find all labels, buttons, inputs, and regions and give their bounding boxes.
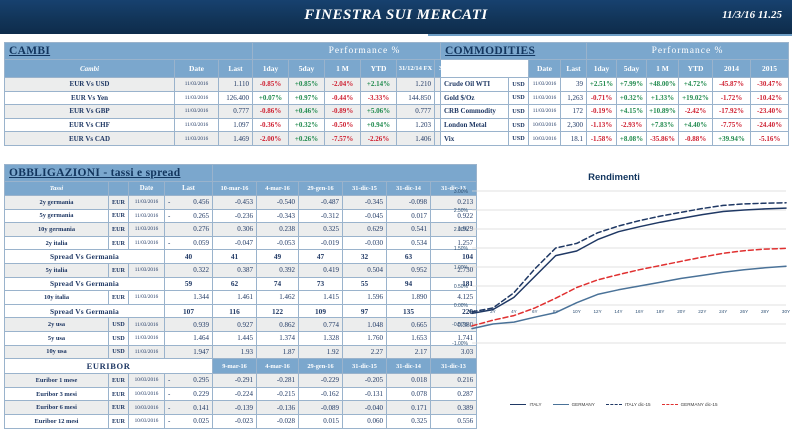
commodity-2015-cell: -5.16% bbox=[751, 132, 789, 146]
commodity-last-cell: 1,263 bbox=[561, 91, 587, 105]
euribor-c4-cell: -0.205 bbox=[343, 374, 387, 388]
spread-c1-cell: 41 bbox=[213, 250, 257, 264]
rate-c1-cell: -0.236 bbox=[213, 209, 257, 223]
commodity-1m-cell: +7.83% bbox=[647, 118, 679, 132]
rate-c2-cell: 0.392 bbox=[257, 263, 299, 277]
euribor-row-label: Euribor 12 mesi bbox=[35, 418, 79, 425]
spread-c3-cell: 73 bbox=[299, 277, 343, 291]
commodity-5day-cell: +4.15% bbox=[617, 105, 647, 119]
rate-row-label: 5y italia bbox=[46, 267, 68, 274]
rate-row-label: 10y usa bbox=[46, 348, 66, 355]
spread-row: Spread Vs Germania10711612210997135220 bbox=[5, 304, 477, 318]
commodity-date-cell: 11/03/2016 bbox=[529, 78, 561, 92]
euribor-ccy-cell: EUR bbox=[109, 401, 129, 415]
euribor-col-2: 4-mar-16 bbox=[257, 359, 299, 374]
rate-c2-cell: 1.374 bbox=[257, 331, 299, 345]
rate-row-label: 10y germania bbox=[38, 226, 75, 233]
spread-label: Spread Vs Germania bbox=[5, 250, 165, 264]
rate-c3-cell: 1.92 bbox=[299, 345, 343, 359]
commodity-ytd-cell: -0.88% bbox=[679, 132, 713, 146]
rate-date-cell: 11/03/2016 bbox=[129, 196, 165, 210]
cambi-5day-cell: +0.85% bbox=[289, 78, 325, 92]
euribor-last-cell: -0.141 bbox=[165, 401, 213, 415]
commodities-col-ytd: YTD bbox=[679, 60, 713, 78]
euribor-name-cell: Euribor 12 mesi bbox=[5, 414, 109, 428]
table-row: 5y germaniaEUR11/03/2016-0.265-0.236-0.3… bbox=[5, 209, 477, 223]
rate-name-cell: 10y usa bbox=[5, 345, 109, 359]
rate-c2-cell: -0.343 bbox=[257, 209, 299, 223]
x-tick-label: 26Y bbox=[740, 309, 748, 314]
table-row: 5y italiaEUR11/03/20160.3220.3870.3920.4… bbox=[5, 263, 477, 277]
cambi-col-fx14: 31/12/14 FX bbox=[397, 60, 435, 78]
y-tick-label: 2.00% bbox=[454, 227, 469, 233]
table-row: Euribor 3 mesiEUR10/03/2016-0.229-0.224-… bbox=[5, 387, 477, 401]
rate-c5-cell: -0.098 bbox=[387, 196, 431, 210]
rate-c3-cell: -0.312 bbox=[299, 209, 343, 223]
commodities-section-title: COMMODITIES bbox=[441, 43, 587, 60]
commodity-2014-cell: +39.94% bbox=[713, 132, 751, 146]
rate-ccy-cell: USD bbox=[109, 345, 129, 359]
cambi-last-cell: 0.777 bbox=[219, 105, 253, 119]
obbligazioni-title-row: OBBLIGAZIONI - tassi e spread bbox=[5, 165, 477, 182]
rate-c3-cell: 1.415 bbox=[299, 291, 343, 305]
cambi-fx14-cell: 1.406 bbox=[397, 132, 435, 146]
euribor-ccy-cell: EUR bbox=[109, 414, 129, 428]
table-row: 10y germaniaEUR11/03/20160.2760.3060.238… bbox=[5, 223, 477, 237]
cambi-ytd-cell: +0.94% bbox=[361, 118, 397, 132]
table-row: 5y usaUSD11/03/20161.4641.4451.3741.3281… bbox=[5, 331, 477, 345]
euribor-header-row: EURIBOR9-mar-164-mar-1629-gen-1631-dic-1… bbox=[5, 359, 477, 374]
obbligazioni-title-filler bbox=[213, 165, 477, 182]
chart-title: Rendimenti bbox=[438, 172, 790, 183]
rate-c2-cell: -0.540 bbox=[257, 196, 299, 210]
rate-c5-cell: 0.017 bbox=[387, 209, 431, 223]
commodities-col-1m: 1 M bbox=[647, 60, 679, 78]
legend-swatch-icon bbox=[510, 404, 526, 405]
commodity-2015-cell: -23.40% bbox=[751, 105, 789, 119]
table-row: Crude Oil WTIUSD11/03/201639+2.51%+7.99%… bbox=[441, 78, 789, 92]
spread-c1-cell: 62 bbox=[213, 277, 257, 291]
rate-c1-cell: 1.461 bbox=[213, 291, 257, 305]
x-tick-label: 4Y bbox=[511, 309, 517, 314]
commodity-ytd-cell: +4.72% bbox=[679, 78, 713, 92]
commodity-name-cell: Gold $/Oz bbox=[441, 91, 509, 105]
spread-last-cell: 107 bbox=[165, 304, 213, 318]
obbligazioni-col-date: Date bbox=[129, 182, 165, 196]
cambi-row-label: EUR Vs CHF bbox=[69, 121, 110, 129]
rate-date-cell: 11/03/2016 bbox=[129, 236, 165, 250]
obbligazioni-col-c5: 31-dic-14 bbox=[387, 182, 431, 196]
cambi-1m-cell: -0.44% bbox=[325, 91, 361, 105]
commodity-last-cell: 172 bbox=[561, 105, 587, 119]
cambi-ytd-cell: -2.26% bbox=[361, 132, 397, 146]
x-tick-label: 22Y bbox=[698, 309, 706, 314]
spread-c5-cell: 63 bbox=[387, 250, 431, 264]
minus-sign: - bbox=[168, 212, 170, 220]
commodity-date-cell: 10/03/2016 bbox=[529, 118, 561, 132]
euribor-c2-cell: -0.215 bbox=[257, 387, 299, 401]
chart-legend: ITALYGERMANYITALY dic-15GERMANY dic-15 bbox=[438, 402, 790, 407]
rate-c3-cell: -0.487 bbox=[299, 196, 343, 210]
commodity-ccy-cell: USD bbox=[509, 132, 529, 146]
cambi-col-date: Date bbox=[175, 60, 219, 78]
commodity-1day-cell: -1.13% bbox=[587, 118, 617, 132]
x-tick-label: 24Y bbox=[719, 309, 727, 314]
commodity-5day-cell: +0.32% bbox=[617, 91, 647, 105]
cambi-fx14-cell: 0.777 bbox=[397, 105, 435, 119]
rate-c3-cell: 1.328 bbox=[299, 331, 343, 345]
cambi-col-name: Cambi bbox=[5, 60, 175, 78]
commodity-row-label: London Metal bbox=[444, 121, 487, 129]
commodity-1m-cell: -35.86% bbox=[647, 132, 679, 146]
cambi-row-label: EUR Vs CAD bbox=[69, 135, 110, 143]
cambi-col-1day: 1day bbox=[253, 60, 289, 78]
rate-date-cell: 11/03/2016 bbox=[129, 209, 165, 223]
cambi-row-label: EUR Vs GBP bbox=[69, 107, 109, 115]
rate-ccy-cell: USD bbox=[109, 331, 129, 345]
x-tick-label: 28Y bbox=[761, 309, 769, 314]
rate-c5-cell: 2.17 bbox=[387, 345, 431, 359]
spread-c4-cell: 32 bbox=[343, 250, 387, 264]
rate-row-label: 2y usa bbox=[48, 321, 65, 328]
minus-sign: - bbox=[168, 417, 170, 425]
commodity-date-cell: 10/03/2016 bbox=[529, 132, 561, 146]
cambi-name-cell: EUR Vs GBP bbox=[5, 105, 175, 119]
rate-ccy-cell: EUR bbox=[109, 291, 129, 305]
rate-c1-cell: 0.387 bbox=[213, 263, 257, 277]
commodity-name-cell: CRB Commodity bbox=[441, 105, 509, 119]
app-header: FINESTRA SUI MERCATI 11/3/16 11.25 bbox=[0, 0, 792, 36]
rate-last-cell: 0.276 bbox=[165, 223, 213, 237]
y-tick-label: 0.00% bbox=[454, 303, 469, 309]
rate-c1-cell: 0.927 bbox=[213, 318, 257, 332]
obbligazioni-col-c4: 31-dic-15 bbox=[343, 182, 387, 196]
legend-label: ITALY dic-15 bbox=[625, 402, 651, 407]
obbligazioni-table: OBBLIGAZIONI - tassi e spread Tassi Date… bbox=[4, 164, 477, 429]
commodity-ccy-cell: USD bbox=[509, 118, 529, 132]
legend-item: ITALY bbox=[510, 402, 541, 407]
euribor-c3-cell: -0.229 bbox=[299, 374, 343, 388]
rate-date-cell: 11/03/2016 bbox=[129, 331, 165, 345]
commodity-name-cell: London Metal bbox=[441, 118, 509, 132]
euribor-row-label: Euribor 1 mese bbox=[36, 377, 78, 384]
euribor-title: EURIBOR bbox=[5, 359, 213, 374]
commodity-row-label: Vix bbox=[444, 135, 454, 143]
rate-last-cell: -0.456 bbox=[165, 196, 213, 210]
rate-name-cell: 2y italia bbox=[5, 236, 109, 250]
commodity-2015-cell: -10.42% bbox=[751, 91, 789, 105]
obbligazioni-header-row: Tassi Date Last 10-mar-16 4-mar-16 29-ge… bbox=[5, 182, 477, 196]
rate-c4-cell: -0.030 bbox=[343, 236, 387, 250]
rate-c5-cell: 0.541 bbox=[387, 223, 431, 237]
rate-c3-cell: 0.325 bbox=[299, 223, 343, 237]
commodity-ccy-cell: USD bbox=[509, 105, 529, 119]
commodities-col-2015: 2015 bbox=[751, 60, 789, 78]
cambi-1m-cell: -0.50% bbox=[325, 118, 361, 132]
header-accent-rule bbox=[428, 34, 792, 36]
table-row: Gold $/OzUSD11/03/20161,263-0.71%+0.32%+… bbox=[441, 91, 789, 105]
rate-c1-cell: 1.93 bbox=[213, 345, 257, 359]
euribor-c4-cell: -0.040 bbox=[343, 401, 387, 415]
rate-c5-cell: 0.534 bbox=[387, 236, 431, 250]
commodity-5day-cell: -2.93% bbox=[617, 118, 647, 132]
rate-c2-cell: 1.462 bbox=[257, 291, 299, 305]
table-row: London MetalUSD10/03/20162,300-1.13%-2.9… bbox=[441, 118, 789, 132]
cambi-1day-cell: -0.85% bbox=[253, 78, 289, 92]
commodity-last-cell: 2,300 bbox=[561, 118, 587, 132]
cambi-header-row: Cambi Date Last 1day 5day 1 M YTD 31/12/… bbox=[5, 60, 477, 78]
cambi-1day-cell: -2.00% bbox=[253, 132, 289, 146]
euribor-row-label: Euribor 3 mesi bbox=[36, 391, 77, 398]
rate-row-label: 5y usa bbox=[48, 335, 65, 342]
cambi-section-title: CAMBI bbox=[5, 43, 253, 60]
legend-label: GERMANY dic-15 bbox=[681, 402, 718, 407]
spread-label: Spread Vs Germania bbox=[5, 304, 165, 318]
rate-c1-cell: 0.306 bbox=[213, 223, 257, 237]
euribor-c5-cell: 0.325 bbox=[387, 414, 431, 428]
spread-c5-cell: 94 bbox=[387, 277, 431, 291]
rate-c4-cell: 1.596 bbox=[343, 291, 387, 305]
cambi-5day-cell: +0.26% bbox=[289, 132, 325, 146]
euribor-last-cell: -0.229 bbox=[165, 387, 213, 401]
commodity-name-cell: Crude Oil WTI bbox=[441, 78, 509, 92]
euribor-row-label: Euribor 6 mesi bbox=[36, 404, 77, 411]
spread-c5-cell: 135 bbox=[387, 304, 431, 318]
commodity-ccy-cell: USD bbox=[509, 78, 529, 92]
table-row: 2y germaniaEUR11/03/2016-0.456-0.453-0.5… bbox=[5, 196, 477, 210]
cambi-title-row: CAMBI Performance % bbox=[5, 43, 477, 60]
cambi-col-last: Last bbox=[219, 60, 253, 78]
legend-item: ITALY dic-15 bbox=[606, 402, 651, 407]
rate-name-cell: 2y germania bbox=[5, 196, 109, 210]
euribor-c2-cell: -0.281 bbox=[257, 374, 299, 388]
commodity-2015-cell: -30.47% bbox=[751, 78, 789, 92]
commodity-row-label: Crude Oil WTI bbox=[444, 80, 490, 88]
series-line bbox=[472, 203, 786, 312]
spread-c2-cell: 122 bbox=[257, 304, 299, 318]
commodity-2014-cell: -1.72% bbox=[713, 91, 751, 105]
commodity-2014-cell: -7.75% bbox=[713, 118, 751, 132]
euribor-col-5: 31-dic-14 bbox=[387, 359, 431, 374]
y-tick-label: -0.50% bbox=[452, 322, 468, 328]
cambi-5day-cell: +0.32% bbox=[289, 118, 325, 132]
obbligazioni-col-last: Last bbox=[165, 182, 213, 196]
euribor-date-cell: 10/03/2016 bbox=[129, 374, 165, 388]
spread-c4-cell: 97 bbox=[343, 304, 387, 318]
x-tick-label: 6Y bbox=[532, 309, 538, 314]
header-timestamp: 11/3/16 11.25 bbox=[722, 9, 782, 21]
rate-c3-cell: 0.419 bbox=[299, 263, 343, 277]
commodities-col-2014: 2014 bbox=[713, 60, 751, 78]
page-title: FINESTRA SUI MERCATI bbox=[0, 7, 792, 24]
rate-last-cell: 1.344 bbox=[165, 291, 213, 305]
x-tick-label: 16Y bbox=[635, 309, 643, 314]
cambi-5day-cell: +0.97% bbox=[289, 91, 325, 105]
table-row: EUR Vs Yen11/03/2016126.400+0.07%+0.97%-… bbox=[5, 91, 477, 105]
rate-row-label: 2y germania bbox=[40, 199, 74, 206]
rate-name-cell: 5y usa bbox=[5, 331, 109, 345]
rate-ccy-cell: EUR bbox=[109, 223, 129, 237]
cambi-date-cell: 11/03/2016 bbox=[175, 91, 219, 105]
rate-ccy-cell: EUR bbox=[109, 209, 129, 223]
x-tick-label: 10Y bbox=[573, 309, 581, 314]
obbligazioni-section-title: OBBLIGAZIONI - tassi e spread bbox=[5, 165, 213, 182]
commodity-ytd-cell: -2.42% bbox=[679, 105, 713, 119]
rate-c1-cell: 1.445 bbox=[213, 331, 257, 345]
commodity-last-cell: 18.1 bbox=[561, 132, 587, 146]
euribor-name-cell: Euribor 1 mese bbox=[5, 374, 109, 388]
legend-item: GERMANY dic-15 bbox=[662, 402, 718, 407]
cambi-last-cell: 1.469 bbox=[219, 132, 253, 146]
cambi-name-cell: EUR Vs CAD bbox=[5, 132, 175, 146]
spread-c4-cell: 55 bbox=[343, 277, 387, 291]
table-row: VixUSD10/03/201618.1-1.58%+8.08%-35.86%-… bbox=[441, 132, 789, 146]
euribor-date-cell: 10/03/2016 bbox=[129, 387, 165, 401]
cambi-name-cell: EUR Vs Yen bbox=[5, 91, 175, 105]
commodity-1m-cell: +10.89% bbox=[647, 105, 679, 119]
commodities-performance-header: Performance % bbox=[587, 43, 789, 60]
cambi-fx14-cell: 1.210 bbox=[397, 78, 435, 92]
euribor-c3-cell: -0.089 bbox=[299, 401, 343, 415]
commodities-col-last: Last bbox=[561, 60, 587, 78]
table-row: Euribor 12 mesiEUR10/03/2016-0.025-0.023… bbox=[5, 414, 477, 428]
x-tick-label: 18Y bbox=[656, 309, 664, 314]
cambi-1m-cell: -2.04% bbox=[325, 78, 361, 92]
table-row: 2y italiaEUR11/03/2016-0.059-0.047-0.053… bbox=[5, 236, 477, 250]
commodity-ytd-cell: +19.02% bbox=[679, 91, 713, 105]
cambi-ytd-cell: +2.14% bbox=[361, 78, 397, 92]
table-row: EUR Vs CHF11/03/20161.097-0.36%+0.32%-0.… bbox=[5, 118, 477, 132]
commodity-1day-cell: -0.19% bbox=[587, 105, 617, 119]
table-row: 2y usaUSD11/03/20160.9390.9270.8620.7741… bbox=[5, 318, 477, 332]
euribor-col-1: 9-mar-16 bbox=[213, 359, 257, 374]
obbligazioni-col-tassi: Tassi bbox=[5, 182, 109, 196]
rate-c1-cell: -0.453 bbox=[213, 196, 257, 210]
cambi-ytd-cell: -3.33% bbox=[361, 91, 397, 105]
table-row: EUR Vs GBP11/03/20160.777-0.86%+0.46%-0.… bbox=[5, 105, 477, 119]
cambi-name-cell: EUR Vs USD bbox=[5, 78, 175, 92]
rate-c4-cell: 1.048 bbox=[343, 318, 387, 332]
obbligazioni-col-c1: 10-mar-16 bbox=[213, 182, 257, 196]
commodity-date-cell: 11/03/2016 bbox=[529, 105, 561, 119]
commodities-col-5day: 5day bbox=[617, 60, 647, 78]
commodities-col-1day: 1day bbox=[587, 60, 617, 78]
euribor-date-cell: 10/03/2016 bbox=[129, 414, 165, 428]
x-tick-label: 14Y bbox=[614, 309, 622, 314]
euribor-c5-cell: 0.078 bbox=[387, 387, 431, 401]
rate-name-cell: 10y germania bbox=[5, 223, 109, 237]
euribor-c4-cell: -0.131 bbox=[343, 387, 387, 401]
y-tick-label: -1.00% bbox=[452, 341, 468, 347]
euribor-ccy-cell: EUR bbox=[109, 387, 129, 401]
rate-c4-cell: 0.629 bbox=[343, 223, 387, 237]
cambi-1day-cell: +0.07% bbox=[253, 91, 289, 105]
cambi-last-cell: 1.097 bbox=[219, 118, 253, 132]
rendimenti-chart: Rendimenti -1.00%-0.50%0.00%0.50%1.00%1.… bbox=[438, 166, 790, 424]
legend-label: ITALY bbox=[529, 402, 541, 407]
minus-sign: - bbox=[168, 390, 170, 398]
minus-sign: - bbox=[168, 239, 170, 247]
euribor-c4-cell: 0.060 bbox=[343, 414, 387, 428]
table-row: Euribor 1 meseEUR10/03/2016-0.295-0.291-… bbox=[5, 374, 477, 388]
rate-ccy-cell: EUR bbox=[109, 236, 129, 250]
minus-sign: - bbox=[168, 376, 170, 384]
cambi-ytd-cell: +5.06% bbox=[361, 105, 397, 119]
table-row: Euribor 6 mesiEUR10/03/2016-0.141-0.139-… bbox=[5, 401, 477, 415]
euribor-col-3: 29-gen-16 bbox=[299, 359, 343, 374]
euribor-c3-cell: 0.015 bbox=[299, 414, 343, 428]
y-tick-label: 1.50% bbox=[454, 246, 469, 252]
rate-last-cell: 0.322 bbox=[165, 263, 213, 277]
rate-last-cell: 0.939 bbox=[165, 318, 213, 332]
rate-ccy-cell: EUR bbox=[109, 196, 129, 210]
rate-last-cell: -0.265 bbox=[165, 209, 213, 223]
cambi-date-cell: 11/03/2016 bbox=[175, 132, 219, 146]
rate-last-cell: 1.947 bbox=[165, 345, 213, 359]
y-tick-label: 3.00% bbox=[454, 189, 469, 195]
legend-swatch-icon bbox=[606, 404, 622, 405]
cambi-fx14-cell: 1.203 bbox=[397, 118, 435, 132]
rate-date-cell: 11/03/2016 bbox=[129, 291, 165, 305]
spread-last-cell: 40 bbox=[165, 250, 213, 264]
rate-c3-cell: -0.019 bbox=[299, 236, 343, 250]
rate-c2-cell: -0.053 bbox=[257, 236, 299, 250]
rate-date-cell: 11/03/2016 bbox=[129, 223, 165, 237]
cambi-col-5day: 5day bbox=[289, 60, 325, 78]
rate-date-cell: 11/03/2016 bbox=[129, 345, 165, 359]
rate-date-cell: 11/03/2016 bbox=[129, 263, 165, 277]
chart-plot-area: -1.00%-0.50%0.00%0.50%1.00%1.50%2.00%2.5… bbox=[438, 183, 790, 395]
commodity-5day-cell: +8.08% bbox=[617, 132, 647, 146]
cambi-row-label: EUR Vs Yen bbox=[71, 94, 108, 102]
rate-name-cell: 2y usa bbox=[5, 318, 109, 332]
commodity-row-label: CRB Commodity bbox=[444, 107, 496, 115]
cambi-5day-cell: +0.46% bbox=[289, 105, 325, 119]
spread-row: Spread Vs Germania404149473263104 bbox=[5, 250, 477, 264]
commodity-2014-cell: -17.92% bbox=[713, 105, 751, 119]
euribor-date-cell: 10/03/2016 bbox=[129, 401, 165, 415]
series-line bbox=[472, 266, 786, 328]
cambi-date-cell: 11/03/2016 bbox=[175, 118, 219, 132]
commodity-1day-cell: -1.58% bbox=[587, 132, 617, 146]
spread-last-cell: 59 bbox=[165, 277, 213, 291]
commodity-2014-cell: -45.87% bbox=[713, 78, 751, 92]
spread-c2-cell: 74 bbox=[257, 277, 299, 291]
rate-c5-cell: 0.665 bbox=[387, 318, 431, 332]
obbligazioni-col-c3: 29-gen-16 bbox=[299, 182, 343, 196]
legend-swatch-icon bbox=[553, 404, 569, 405]
commodity-row-label: Gold $/Oz bbox=[444, 94, 475, 102]
commodities-col-date: Date bbox=[529, 60, 561, 78]
euribor-c1-cell: -0.224 bbox=[213, 387, 257, 401]
rate-name-cell: 5y italia bbox=[5, 263, 109, 277]
minus-sign: - bbox=[168, 404, 170, 412]
commodity-1day-cell: +2.51% bbox=[587, 78, 617, 92]
rate-name-cell: 10y italia bbox=[5, 291, 109, 305]
commodity-date-cell: 11/03/2016 bbox=[529, 91, 561, 105]
cambi-name-cell: EUR Vs CHF bbox=[5, 118, 175, 132]
rate-last-cell: 1.464 bbox=[165, 331, 213, 345]
cambi-fx14-cell: 144.850 bbox=[397, 91, 435, 105]
cambi-last-cell: 126.400 bbox=[219, 91, 253, 105]
legend-item: GERMANY bbox=[553, 402, 595, 407]
euribor-c2-cell: -0.136 bbox=[257, 401, 299, 415]
rate-c2-cell: 1.87 bbox=[257, 345, 299, 359]
cambi-col-1m: 1 M bbox=[325, 60, 361, 78]
euribor-c3-cell: -0.162 bbox=[299, 387, 343, 401]
legend-label: GERMANY bbox=[572, 402, 595, 407]
cambi-date-cell: 11/03/2016 bbox=[175, 78, 219, 92]
